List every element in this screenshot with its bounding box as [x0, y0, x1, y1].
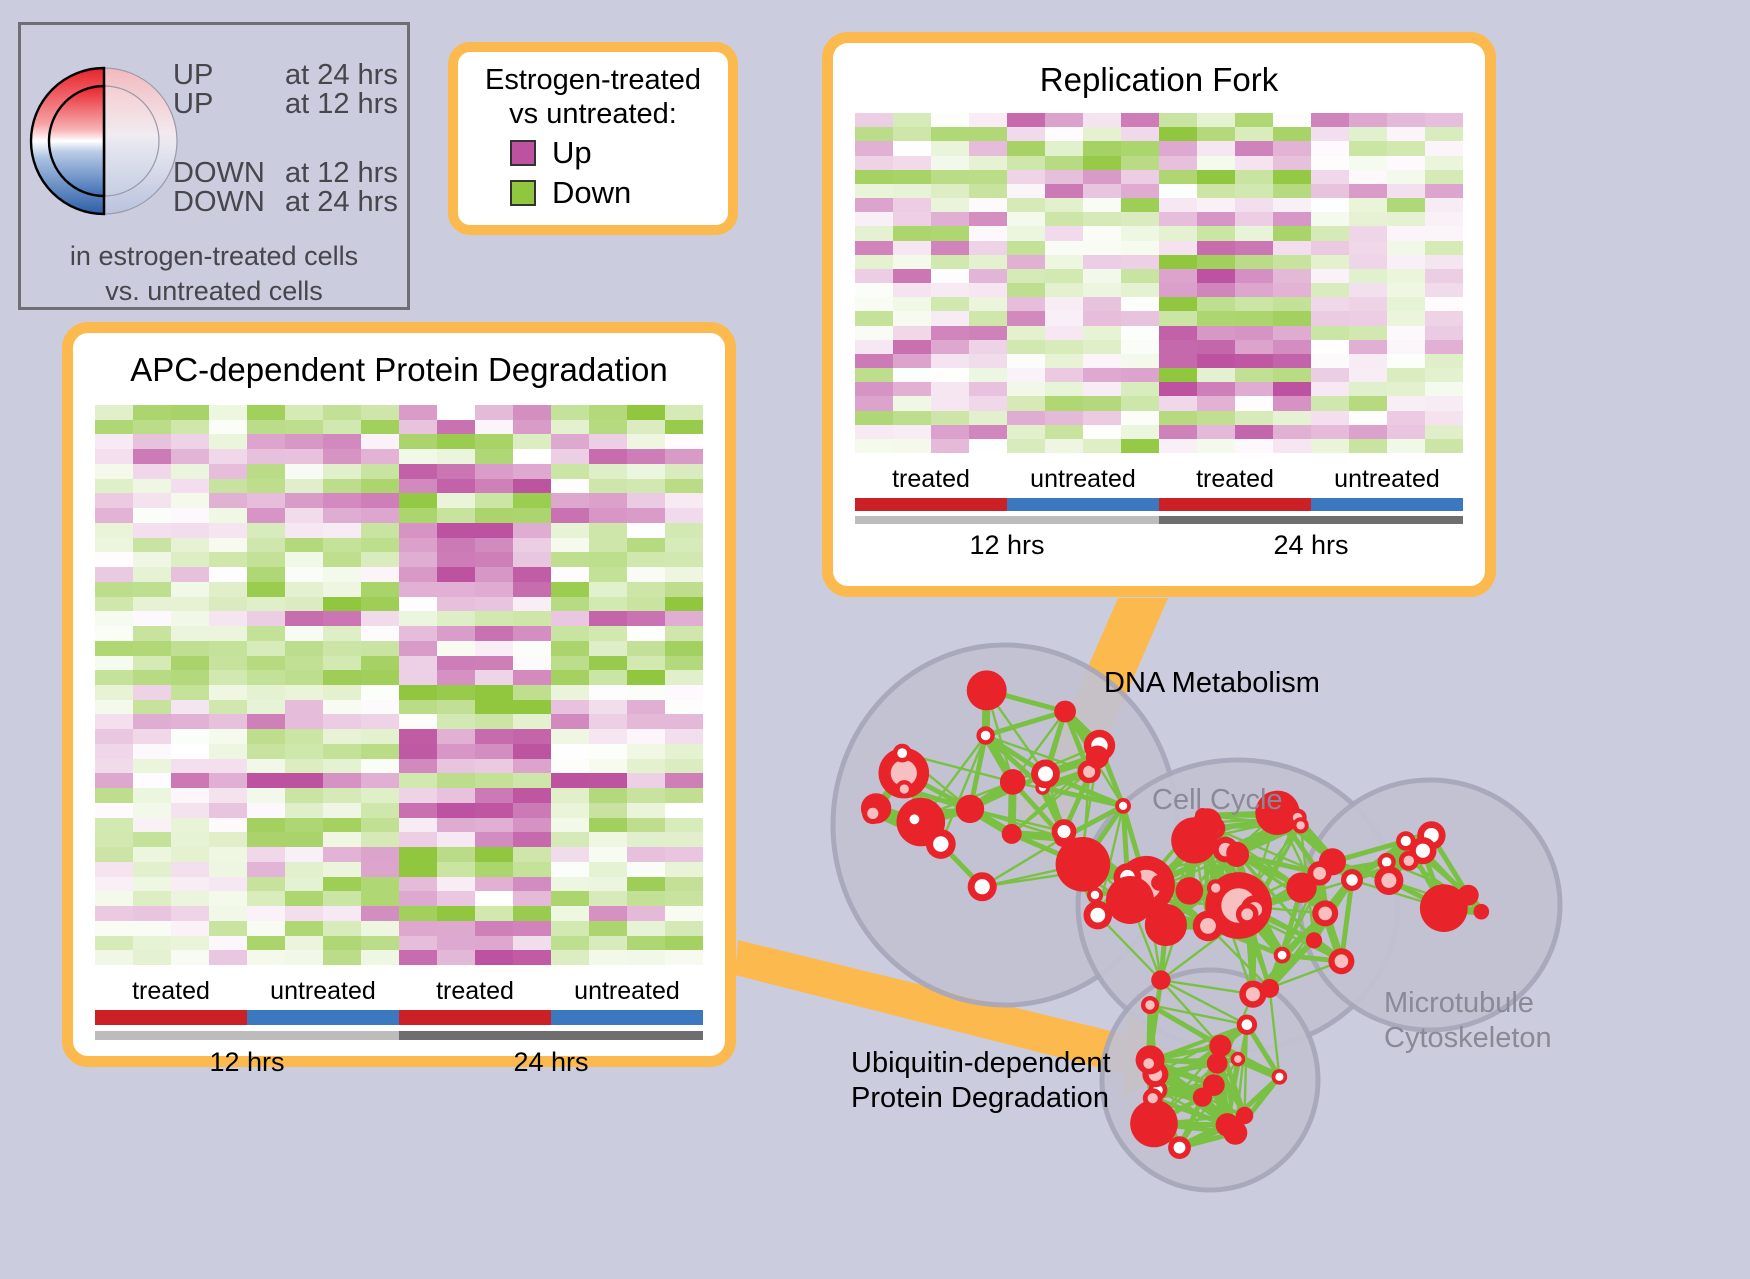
heatmap-cell [247, 729, 285, 744]
legend-direction: DOWN [173, 159, 285, 188]
legend-footer-line2: vs. untreated cells [21, 274, 407, 309]
heatmap-cell [589, 641, 627, 656]
heatmap-cell [1121, 170, 1159, 184]
down-label: Down [552, 175, 631, 211]
heatmap-cell [285, 538, 323, 553]
heatmap-cell [437, 700, 475, 715]
heatmap-cell [133, 479, 171, 494]
heatmap-cell [323, 877, 361, 892]
network-edge [1130, 883, 1159, 900]
network-edge [1012, 757, 1098, 834]
heatmap-cell [627, 611, 665, 626]
network-edge [1180, 1133, 1236, 1148]
network-edge [982, 838, 1063, 887]
heatmap-cell [1121, 141, 1159, 155]
heatmap-cell [247, 641, 285, 656]
heatmap-cell [665, 921, 703, 936]
heatmap-cell [1121, 326, 1159, 340]
heatmap-cell [437, 493, 475, 508]
heatmap-cell [551, 567, 589, 582]
heatmap-cell [475, 597, 513, 612]
heatmap-cell [171, 950, 209, 965]
heatmap-cell [95, 773, 133, 788]
network-node-core [1091, 891, 1099, 899]
heatmap-cell [1273, 127, 1311, 141]
network-edge [1237, 853, 1255, 910]
panel-title: Replication Fork [833, 61, 1485, 99]
heatmap-cell [855, 411, 893, 425]
network-node [1286, 873, 1316, 903]
heatmap-cell [247, 670, 285, 685]
heatmap-cell [209, 434, 247, 449]
network-edge [1161, 891, 1190, 980]
network-edge [1214, 994, 1253, 1085]
heatmap-cell [1007, 156, 1045, 170]
network-edge [1214, 818, 1298, 829]
network-edge [1203, 816, 1209, 926]
heatmap-cell [171, 921, 209, 936]
heatmap-cell [475, 950, 513, 965]
heatmap-cell [931, 269, 969, 283]
network-edge [1208, 926, 1270, 989]
heatmap-cell [209, 877, 247, 892]
heatmap-cell [399, 479, 437, 494]
heatmap-cell [1159, 354, 1197, 368]
heatmap-cell [1425, 382, 1463, 396]
heatmap-cell [399, 685, 437, 700]
heatmap-cell [1235, 198, 1273, 212]
heatmap-cell [171, 552, 209, 567]
heatmap-cell [893, 269, 931, 283]
network-edge [1389, 841, 1406, 881]
heatmap-cell [513, 832, 551, 847]
network-edge [1194, 840, 1238, 905]
heatmap-cell [1273, 311, 1311, 325]
network-edge [982, 872, 1078, 887]
network-edge [1180, 1059, 1238, 1148]
heatmap-cell [589, 773, 627, 788]
network-node [1226, 842, 1248, 864]
heatmap-cell [1083, 354, 1121, 368]
network-node [1176, 877, 1204, 905]
network-edge [1468, 895, 1481, 912]
network-edge [1130, 900, 1239, 906]
network-node-core [933, 836, 948, 851]
heatmap-cell [1311, 425, 1349, 439]
heatmap-cell [1425, 326, 1463, 340]
heatmap-cell [1387, 411, 1425, 425]
heatmap-cell [437, 803, 475, 818]
network-edge [1150, 1060, 1153, 1098]
heatmap-cell [399, 950, 437, 965]
network-edge [1063, 838, 1083, 865]
heatmap-cell [95, 685, 133, 700]
network-edge [1247, 825, 1300, 914]
heatmap-cell [285, 773, 323, 788]
up-swatch-icon [510, 140, 536, 166]
heatmap-cell [95, 597, 133, 612]
network-edge [1154, 1124, 1235, 1133]
network-edge [970, 809, 1063, 838]
heatmap-cell [209, 538, 247, 553]
network-edge [941, 844, 982, 887]
network-edge [1130, 900, 1208, 926]
heatmap-cell [931, 127, 969, 141]
heatmap-cell [247, 405, 285, 420]
network-edge [1423, 851, 1481, 912]
heatmap-cell [627, 700, 665, 715]
network-edge [1150, 1060, 1227, 1125]
heatmap-cell [399, 567, 437, 582]
network-edge [1166, 925, 1208, 926]
network-edge [1247, 873, 1319, 914]
heatmap-cell [95, 641, 133, 656]
network-edge [1180, 1125, 1228, 1148]
heatmap-cell [1159, 396, 1197, 410]
heatmap-cell [437, 788, 475, 803]
network-edge [1227, 1077, 1279, 1125]
heatmap-cell [95, 582, 133, 597]
network-node [1035, 780, 1050, 795]
heatmap-cell [1235, 368, 1273, 382]
heatmap-cell [1121, 439, 1159, 453]
network-edge [1387, 835, 1432, 862]
heatmap-cell [1387, 368, 1425, 382]
heatmap-cell [627, 567, 665, 582]
heatmap-cell [931, 368, 969, 382]
heatmap-cell [1311, 368, 1349, 382]
heatmap-cell [399, 759, 437, 774]
heatmap-cell [589, 479, 627, 494]
heatmap-cell [893, 311, 931, 325]
heatmap-cell [247, 877, 285, 892]
network-node [1056, 837, 1111, 892]
heatmap-cell [969, 411, 1007, 425]
heatmap-cell [513, 818, 551, 833]
network-edge [1217, 1046, 1220, 1063]
heatmap-apc-degradation [95, 405, 703, 965]
heatmap-cell [209, 803, 247, 818]
network-node [1205, 872, 1272, 939]
heatmap-cell [475, 464, 513, 479]
network-edge [1146, 885, 1208, 926]
network-edge [1083, 772, 1089, 865]
heatmap-cell [399, 773, 437, 788]
heatmap-cell [665, 538, 703, 553]
heatmap-cell [589, 508, 627, 523]
network-edge [1208, 926, 1282, 955]
heatmap-cell [437, 567, 475, 582]
heatmap-cell [399, 597, 437, 612]
heatmap-cell [665, 744, 703, 759]
network-edge [921, 736, 986, 823]
heatmap-cell [665, 891, 703, 906]
network-node [1223, 1121, 1247, 1145]
heatmap-cell [361, 611, 399, 626]
heatmap-cell [969, 340, 1007, 354]
heatmap-cell [323, 773, 361, 788]
heatmap-cell [1045, 326, 1083, 340]
heatmap-cell [1425, 368, 1463, 382]
heatmap-cell [1273, 156, 1311, 170]
heatmap-cell [665, 420, 703, 435]
heatmap-cell [589, 950, 627, 965]
network-edge [1159, 823, 1208, 883]
network-node [879, 748, 930, 799]
heatmap-cell [627, 714, 665, 729]
heatmap-cell [551, 597, 589, 612]
network-edge [1150, 1005, 1238, 1059]
heatmap-cell [399, 582, 437, 597]
heatmap-cell [1235, 184, 1273, 198]
heatmap-cell [1311, 269, 1349, 283]
heatmap-cell [1273, 382, 1311, 396]
heatmap-cell [855, 156, 893, 170]
network-edge [1217, 1063, 1244, 1115]
heatmap-cell [1235, 326, 1273, 340]
heatmap-cell [513, 626, 551, 641]
heatmap-cell [285, 788, 323, 803]
heatmap-cell [513, 434, 551, 449]
heatmap-cell [361, 567, 399, 582]
heatmap-cell [247, 626, 285, 641]
heatmap-cell [665, 611, 703, 626]
heatmap-cell [893, 141, 931, 155]
heatmap-cell [475, 626, 513, 641]
network-edge [1149, 1064, 1214, 1086]
network-edge [873, 773, 904, 813]
heatmap-cell [627, 538, 665, 553]
network-edge [1235, 1116, 1244, 1133]
heatmap-cell [665, 552, 703, 567]
network-edge [904, 773, 970, 809]
heatmap-cell [95, 626, 133, 641]
heatmap-cell [247, 449, 285, 464]
heatmap-cell [95, 906, 133, 921]
heatmap-cell [171, 597, 209, 612]
heatmap-cell [475, 818, 513, 833]
network-edge [1154, 1063, 1217, 1123]
heatmap-cell [1387, 127, 1425, 141]
heatmap-cell [627, 641, 665, 656]
up-label: Up [552, 135, 592, 171]
sample-group-bar [399, 1010, 551, 1025]
network-edge [1149, 1005, 1150, 1064]
heatmap-cell [171, 493, 209, 508]
heatmap-cell [1159, 326, 1197, 340]
network-node [1141, 996, 1159, 1014]
heatmap-cell [1121, 184, 1159, 198]
heatmap-cell [133, 611, 171, 626]
heatmap-cell [1273, 368, 1311, 382]
network-edge [1389, 881, 1481, 912]
heatmap-cell [285, 552, 323, 567]
heatmap-cell [1045, 368, 1083, 382]
heatmap-cell [95, 921, 133, 936]
heatmap-cell [247, 759, 285, 774]
heatmap-cell [399, 449, 437, 464]
heatmap-cell [323, 420, 361, 435]
heatmap-cell [437, 552, 475, 567]
network-edge [1320, 873, 1342, 961]
network-edge [1166, 823, 1208, 925]
heatmap-cell [969, 156, 1007, 170]
heatmap-cell [969, 170, 1007, 184]
heatmap-cell [247, 508, 285, 523]
heatmap-cell [475, 803, 513, 818]
heatmap-cell [95, 832, 133, 847]
heatmap-cell [1159, 170, 1197, 184]
heatmap-cell [1387, 283, 1425, 297]
network-edge [1194, 840, 1254, 909]
network-node-core [1145, 1000, 1154, 1009]
network-edge [1098, 877, 1128, 915]
heatmap-cell [209, 950, 247, 965]
heatmap-cell [323, 862, 361, 877]
network-edge [1239, 906, 1255, 910]
heatmap-cell [969, 297, 1007, 311]
heatmap-cell [1235, 113, 1273, 127]
heatmap-cell [1121, 156, 1159, 170]
heatmap-cell [1197, 326, 1235, 340]
network-edge [970, 774, 1046, 809]
heatmap-cell [1387, 311, 1425, 325]
heatmap-cell [551, 759, 589, 774]
heatmap-cell [513, 921, 551, 936]
heatmap-cell [1311, 411, 1349, 425]
network-node [1293, 817, 1309, 833]
heatmap-cell [589, 434, 627, 449]
heatmap-cell [1349, 354, 1387, 368]
legend-time: at 12 hrs [285, 159, 398, 188]
network-edge [1387, 862, 1469, 895]
network-node [1148, 1081, 1167, 1100]
heatmap-cell [171, 700, 209, 715]
heatmap-cell [1007, 226, 1045, 240]
heatmap-cell [399, 405, 437, 420]
heatmap-cell [1159, 368, 1197, 382]
network-edge [1255, 910, 1282, 956]
heatmap-cell [361, 479, 399, 494]
network-edge [1301, 825, 1314, 940]
heatmap-cell [627, 405, 665, 420]
heatmap-cell [969, 127, 1007, 141]
heatmap-cell [665, 670, 703, 685]
heatmap-cell [323, 597, 361, 612]
heatmap-cell [95, 538, 133, 553]
network-edge [1406, 835, 1432, 841]
heatmap-cell [1273, 184, 1311, 198]
network-edge [1150, 1060, 1158, 1090]
sample-group-bar [855, 498, 1007, 511]
heatmap-cell [1121, 255, 1159, 269]
heatmap-cell [1311, 283, 1349, 297]
panel-replication-fork: Replication Fork treateduntreatedtreated… [822, 32, 1496, 597]
network-edge [1202, 1097, 1235, 1133]
heatmap-cell [513, 700, 551, 715]
heatmap-cell [931, 170, 969, 184]
heatmap-cell [323, 405, 361, 420]
network-node [968, 872, 997, 901]
heatmap-cell [969, 198, 1007, 212]
heatmap-cell [1235, 141, 1273, 155]
heatmap-cell [1311, 113, 1349, 127]
heatmap-cell [95, 405, 133, 420]
heatmap-cell [1311, 382, 1349, 396]
network-node [956, 795, 984, 823]
network-edge [1247, 888, 1301, 915]
heatmap-cell [1235, 226, 1273, 240]
heatmap-cell [475, 877, 513, 892]
heatmap-cell [1311, 156, 1349, 170]
heatmap-cell [589, 493, 627, 508]
network-edge [1245, 1025, 1247, 1116]
network-edge [1146, 885, 1189, 891]
sample-group-label: untreated [551, 977, 703, 1006]
network-edge [1166, 850, 1226, 925]
network-edge [1214, 828, 1239, 905]
heatmap-cell [1311, 326, 1349, 340]
heatmap-cell [1273, 212, 1311, 226]
network-edge [904, 773, 941, 844]
heatmap-cell [1083, 411, 1121, 425]
heatmap-cell [1197, 340, 1235, 354]
network-edge [1161, 980, 1247, 1025]
network-edge [982, 864, 1083, 886]
heatmap-cell [95, 818, 133, 833]
network-edge [1314, 940, 1341, 961]
network-edge [1208, 823, 1209, 926]
network-node [1054, 701, 1076, 723]
heatmap-cell [1045, 396, 1083, 410]
heatmap-cell [1349, 198, 1387, 212]
heatmap-cell [855, 198, 893, 212]
heatmap-cell [931, 113, 969, 127]
legend-time: at 12 hrs [285, 90, 398, 119]
heatmap-cell [95, 714, 133, 729]
heatmap-cell [209, 464, 247, 479]
network-edge [1150, 1046, 1220, 1060]
timepoint-bar [855, 516, 1159, 524]
network-node-core [1174, 1142, 1186, 1154]
heatmap-cell [133, 891, 171, 906]
heatmap-cell [551, 656, 589, 671]
heatmap-cell [475, 479, 513, 494]
heatmap-cell [475, 670, 513, 685]
heatmap-cell [1197, 184, 1235, 198]
network-edge [1159, 883, 1216, 888]
heatmap-cell [361, 597, 399, 612]
network-edge [1149, 1064, 1158, 1091]
network-node [893, 744, 912, 763]
heatmap-cell [1045, 255, 1083, 269]
heatmap-cell [95, 788, 133, 803]
network-edge [873, 813, 941, 844]
heatmap-cell [247, 685, 285, 700]
network-node [1203, 817, 1226, 840]
heatmap-cell [551, 449, 589, 464]
heatmap-cell [361, 744, 399, 759]
heatmap-cell [589, 714, 627, 729]
heatmap-cell [1083, 141, 1121, 155]
legend-row-up-12: UP at 12 hrs [173, 90, 413, 119]
network-node-core [1247, 902, 1262, 917]
heatmap-cell [1083, 226, 1121, 240]
sample-group-colorbar [95, 1010, 703, 1025]
heatmap-cell [1425, 198, 1463, 212]
heatmap-cell [475, 420, 513, 435]
network-node-core [1149, 1068, 1163, 1082]
